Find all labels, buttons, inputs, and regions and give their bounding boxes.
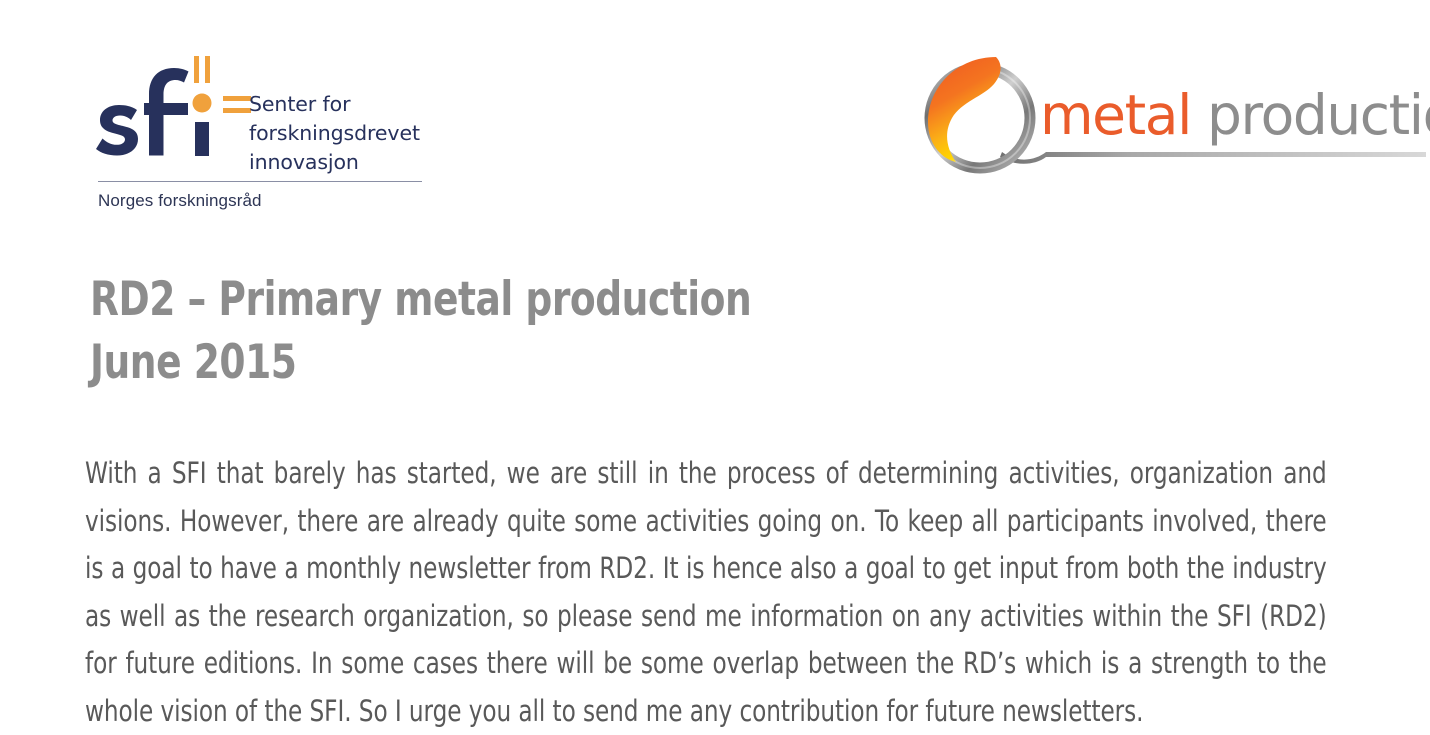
- intro-paragraph: With a SFI that barely has started, we a…: [85, 450, 1327, 735]
- sfi-wordmark-icon: [92, 48, 252, 168]
- metal-word: metal: [1040, 83, 1207, 147]
- metal-production-logo: metal production: [918, 48, 1430, 180]
- sfi-council-label: Norges forskningsråd: [98, 191, 262, 211]
- sfi-divider: [98, 181, 422, 182]
- sfi-tagline: Senter for forskningsdrevet innovasjon: [249, 90, 420, 177]
- sfi-tagline-line-3: innovasjon: [249, 148, 420, 177]
- page-title-line-1: RD2 – Primary metal production: [90, 268, 1098, 331]
- page-title-line-2: June 2015: [90, 331, 1098, 394]
- page-title: RD2 – Primary metal production June 2015: [90, 268, 1098, 394]
- production-word: production: [1207, 83, 1430, 147]
- sfi-tagline-line-1: Senter for: [249, 90, 420, 119]
- metal-production-wordmark: metal production: [1040, 86, 1430, 144]
- sfi-logo: Senter for forskningsdrevet innovasjon N…: [92, 48, 432, 218]
- sfi-tagline-line-2: forskningsdrevet: [249, 119, 420, 148]
